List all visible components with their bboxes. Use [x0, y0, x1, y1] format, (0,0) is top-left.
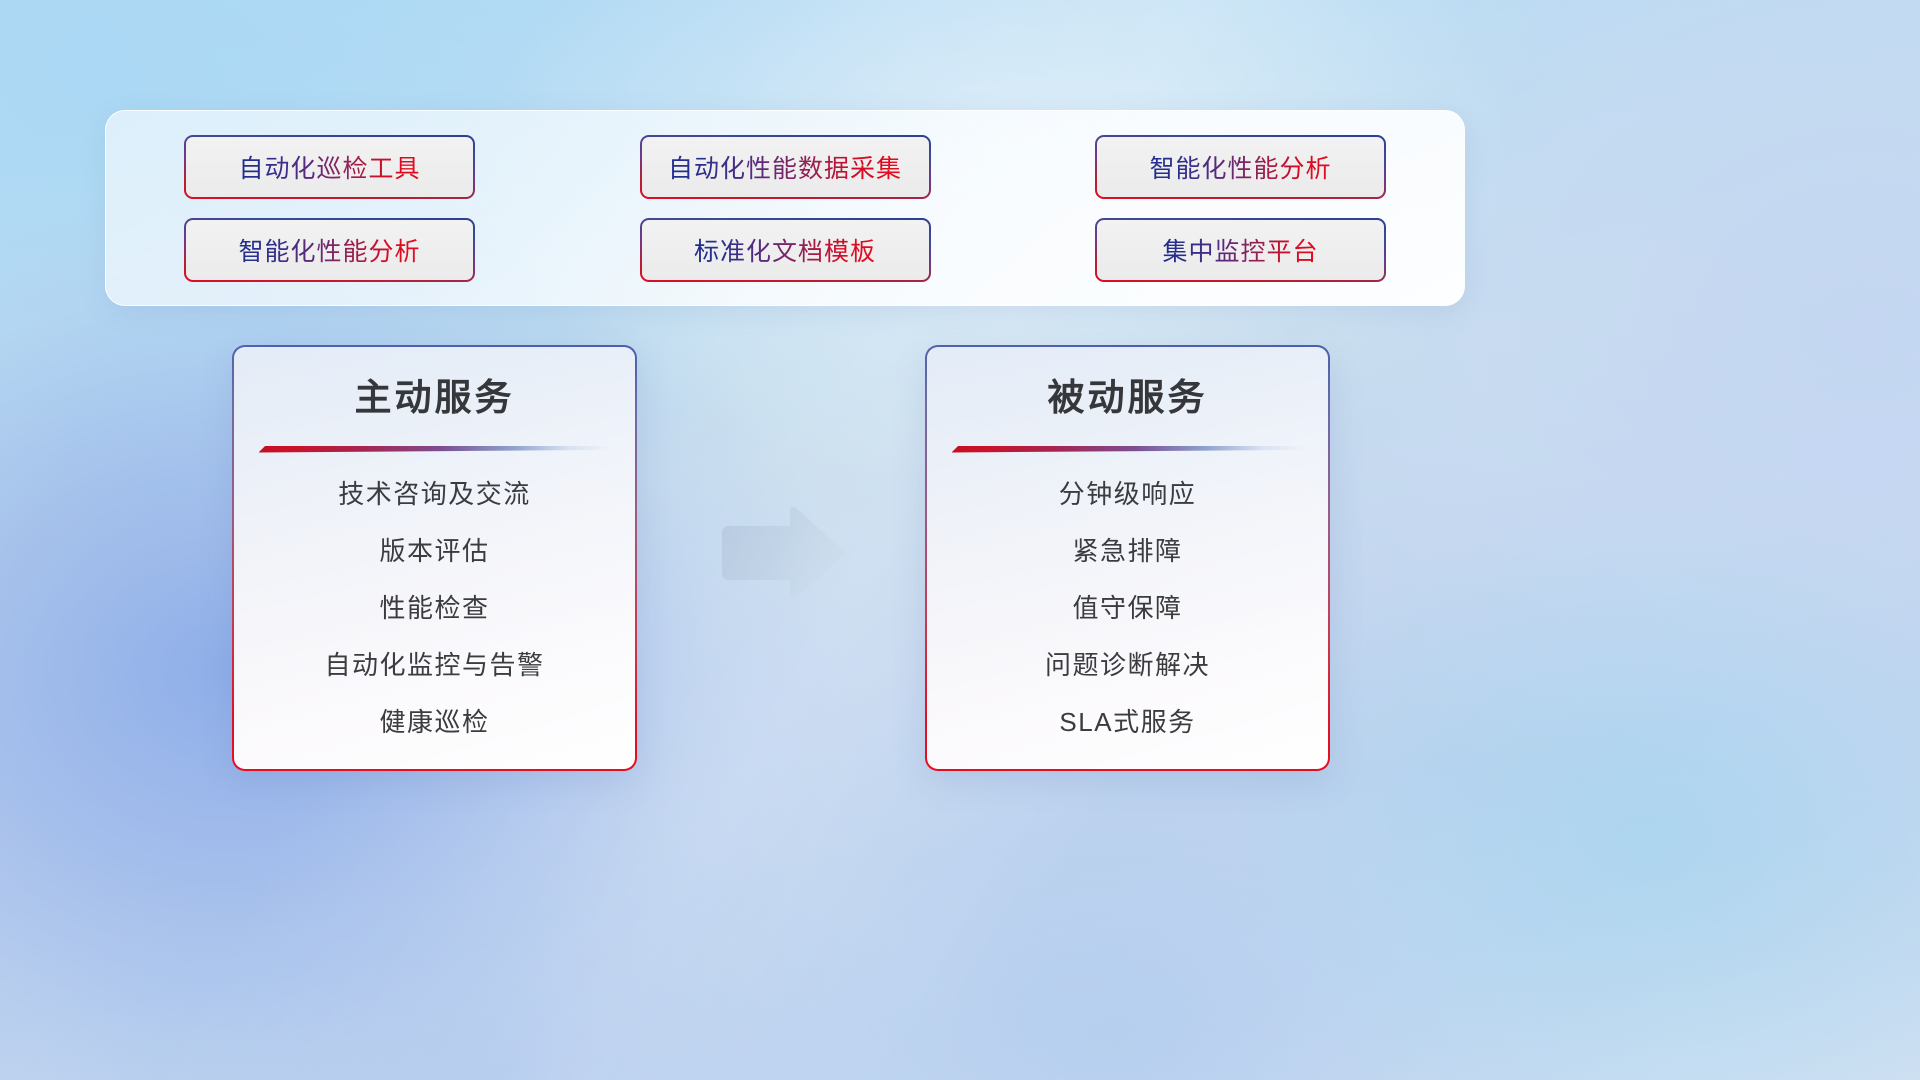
capability-tag-intelligent-performance-analysis[interactable]: 智能化性能分析: [1095, 135, 1386, 199]
service-list-item: 值守保障: [1072, 593, 1182, 624]
capability-tag-standardized-document-template[interactable]: 标准化文档模板: [640, 218, 931, 282]
capability-tag-automated-performance-data-collection[interactable]: 自动化性能数据采集: [640, 135, 931, 199]
service-card-divider: [952, 446, 1304, 453]
capability-tag-label: 自动化性能数据采集: [668, 149, 902, 185]
capability-tag-body: 自动化性能数据采集: [642, 137, 929, 197]
service-list-item: 问题诊断解决: [1045, 650, 1210, 681]
capability-tag-body: 集中监控平台: [1097, 220, 1384, 280]
service-card-list: 分钟级响应 紧急排障 值守保障 问题诊断解决 SLA式服务: [951, 479, 1304, 739]
capability-tag-centralized-monitoring-platform[interactable]: 集中监控平台: [1095, 218, 1386, 282]
service-list-item: 性能检查: [379, 593, 489, 624]
capability-tag-label: 标准化文档模板: [694, 232, 876, 268]
capability-row-2: 智能化性能分析 标准化文档模板 集中监控平台: [184, 218, 1386, 282]
capability-tag-body: 智能化性能分析: [1097, 137, 1384, 197]
service-list-item: 技术咨询及交流: [338, 479, 531, 510]
capability-tag-label: 集中监控平台: [1162, 232, 1318, 268]
service-card-divider: [259, 446, 611, 453]
service-list-item: SLA式服务: [1059, 707, 1195, 738]
service-list-item: 自动化监控与告警: [324, 650, 544, 681]
service-card-list: 技术咨询及交流 版本评估 性能检查 自动化监控与告警 健康巡检: [258, 479, 611, 739]
capability-tag-label: 智能化性能分析: [238, 232, 420, 268]
capability-tag-automated-inspection-tool[interactable]: 自动化巡检工具: [184, 135, 475, 199]
service-card-passive[interactable]: 被动服务 分钟级响应 紧急排障 值守保障 问题诊断解决 SLA式服务: [925, 345, 1330, 771]
capability-tag-intelligent-performance-analysis-2[interactable]: 智能化性能分析: [184, 218, 475, 282]
service-card-active[interactable]: 主动服务 技术咨询及交流 版本评估 性能检查 自动化监控与告警 健康巡检: [232, 345, 637, 771]
slide-canvas: 自动化巡检工具 自动化性能数据采集 智能化性能分析 智能化性能分析: [0, 0, 1920, 1080]
service-list-item: 健康巡检: [379, 707, 489, 738]
capability-tag-body: 标准化文档模板: [642, 220, 929, 280]
right-arrow-icon: [716, 505, 846, 601]
service-list-item: 紧急排障: [1072, 536, 1182, 567]
service-card-title: 主动服务: [355, 377, 515, 420]
service-list-item: 版本评估: [379, 536, 489, 567]
capability-tag-label: 智能化性能分析: [1149, 149, 1331, 185]
capability-tag-body: 智能化性能分析: [186, 220, 473, 280]
capability-row-1: 自动化巡检工具 自动化性能数据采集 智能化性能分析: [184, 135, 1386, 199]
service-card-title: 被动服务: [1048, 377, 1208, 420]
service-list-item: 分钟级响应: [1059, 479, 1197, 510]
service-card-body: 被动服务 分钟级响应 紧急排障 值守保障 问题诊断解决 SLA式服务: [927, 347, 1328, 769]
service-card-body: 主动服务 技术咨询及交流 版本评估 性能检查 自动化监控与告警 健康巡检: [234, 347, 635, 769]
capability-tag-label: 自动化巡检工具: [238, 149, 420, 185]
capability-tag-body: 自动化巡检工具: [186, 137, 473, 197]
capability-panel: 自动化巡检工具 自动化性能数据采集 智能化性能分析 智能化性能分析: [105, 110, 1465, 306]
